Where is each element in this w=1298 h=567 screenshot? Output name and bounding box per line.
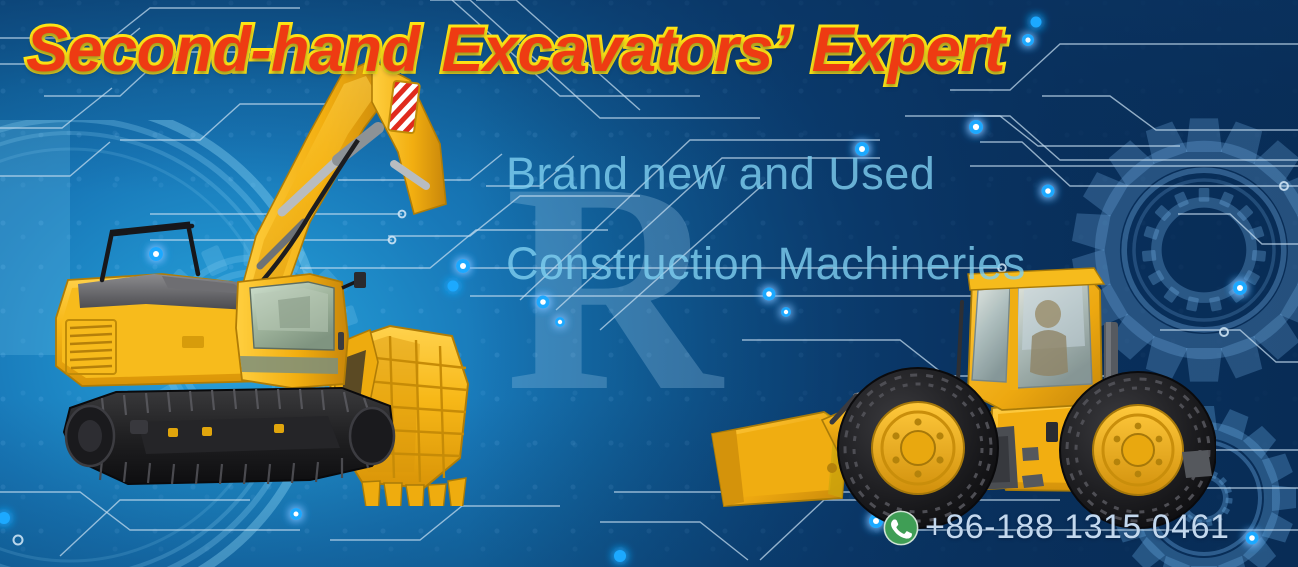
contact-phone-row[interactable]: +86-188 1315 0461 [882,508,1229,547]
subtitle-line-2: Construction Machineries [506,238,1026,290]
headline-part-3: Expert [812,15,1005,85]
headline-part-2: Excavators’ [442,15,790,85]
subtitle-line-1: Brand new and Used [506,148,935,200]
whatsapp-icon[interactable] [882,509,920,547]
promo-banner: R [0,0,1298,567]
headline-text: Second-handExcavators’Expert [26,14,1005,86]
phone-number-text: +86-188 1315 0461 [925,508,1229,547]
headline-part-1: Second-hand [26,15,420,85]
